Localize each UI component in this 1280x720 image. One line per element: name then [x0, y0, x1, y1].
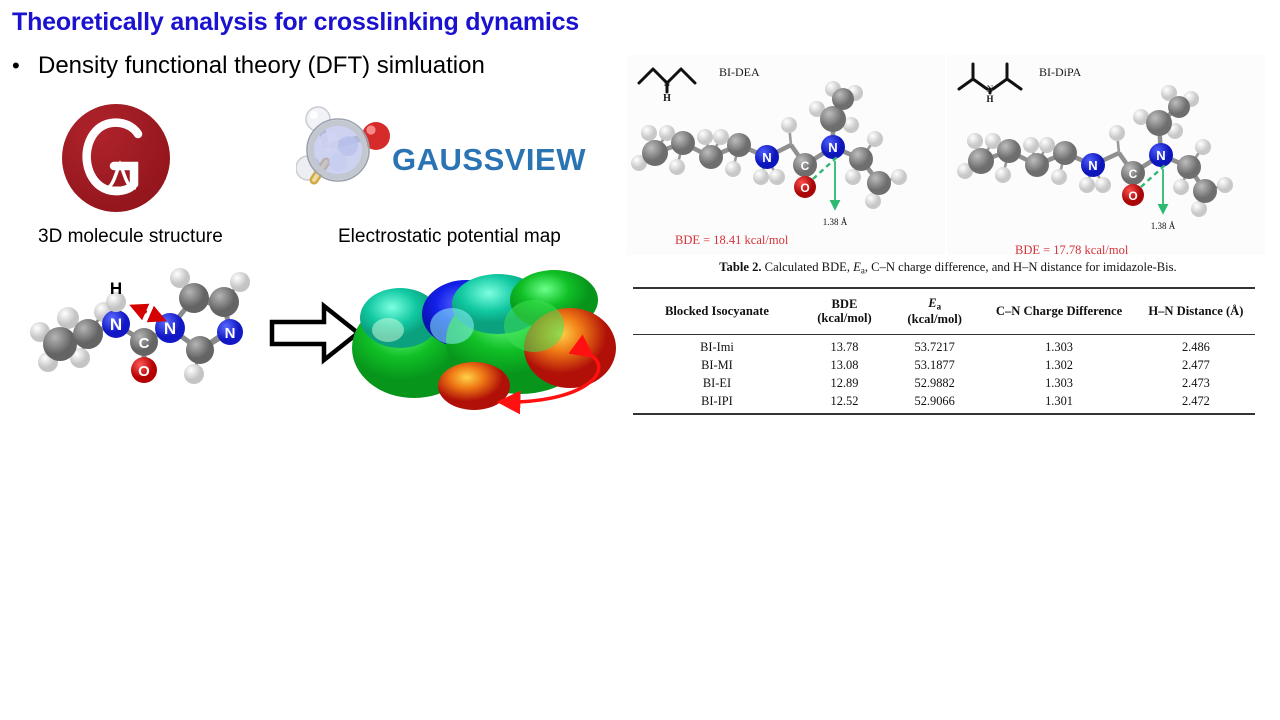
gaussian-logo	[62, 104, 170, 212]
bullet-label: Density functional theory (DFT) simluati…	[38, 52, 485, 80]
bde-value-bi-dea: BDE = 18.41 kcal/mol	[675, 233, 788, 248]
header-line1: BDE	[803, 297, 886, 311]
table-header-row: Blocked Isocyanate BDE (kcal/mol) Ea (kc…	[633, 288, 1255, 335]
bullet-item: • Density functional theory (DFT) simlua…	[12, 52, 485, 80]
cell-compound: BI-IPI	[633, 393, 801, 415]
table-footer-rule	[633, 414, 1255, 415]
svg-text:H: H	[110, 279, 122, 298]
svg-text:C: C	[801, 159, 810, 173]
caption-electrostatic-potential-map: Electrostatic potential map	[338, 226, 561, 248]
table-header-charge-difference: C–N Charge Difference	[981, 288, 1137, 335]
table-caption-text-2: , C–N charge difference, and H–N distanc…	[865, 260, 1177, 274]
molecule-structure-bi-dipa-image: N N C O 1.38 Å	[947, 81, 1265, 231]
cell-ea: 53.1877	[888, 357, 981, 375]
svg-text:N: N	[1088, 158, 1097, 173]
cell-compound: BI-Imi	[633, 335, 801, 357]
cell-bde: 12.52	[801, 393, 888, 415]
table-header-blocked-isocyanate: Blocked Isocyanate	[633, 288, 801, 335]
gaussian-logo-g-glyph	[62, 104, 170, 212]
svg-text:N: N	[762, 150, 771, 165]
cell-ea: 52.9066	[888, 393, 981, 415]
molecule-3d-structure-image: N N N C O H	[18, 258, 268, 420]
table-caption-label: Table 2.	[719, 260, 761, 274]
cell-compound: BI-EI	[633, 375, 801, 393]
cell-charge-diff: 1.301	[981, 393, 1137, 415]
cell-compound: BI-MI	[633, 357, 801, 375]
page-title: Theoretically analysis for crosslinking …	[12, 8, 579, 37]
table-row: BI-IPI 12.52 52.9066 1.301 2.472	[633, 393, 1255, 415]
svg-text:1.38 Å: 1.38 Å	[823, 217, 848, 227]
svg-text:O: O	[138, 363, 150, 380]
table-row: BI-Imi 13.78 53.7217 1.303 2.486	[633, 335, 1255, 357]
svg-text:N: N	[1156, 148, 1165, 163]
cell-hn-distance: 2.477	[1137, 357, 1255, 375]
table-caption-ea: E	[853, 260, 861, 274]
svg-text:N: N	[110, 315, 122, 334]
bde-value-bi-dipa: BDE = 17.78 kcal/mol	[1015, 243, 1128, 258]
gaussview-molecule-magnifier-icon	[296, 106, 400, 198]
gaussview-logo-text: GAUSSVIEW	[392, 142, 586, 178]
table-header-bde: BDE (kcal/mol)	[801, 288, 888, 335]
molecule-panel-bi-dea: N H BI-DEA	[627, 55, 945, 255]
cell-bde: 13.78	[801, 335, 888, 357]
svg-text:1.38 Å: 1.38 Å	[1151, 221, 1176, 231]
cell-hn-distance: 2.486	[1137, 335, 1255, 357]
table-caption: Table 2. Calculated BDE, Ea, C–N charge …	[633, 260, 1263, 275]
electrostatic-potential-map-image	[348, 252, 616, 424]
molecule-panel-bi-dipa: N H BI-DiPA	[947, 55, 1265, 255]
cell-hn-distance: 2.473	[1137, 375, 1255, 393]
cell-hn-distance: 2.472	[1137, 393, 1255, 415]
svg-text:O: O	[1128, 189, 1137, 203]
slide-canvas: Theoretically analysis for crosslinking …	[0, 0, 1280, 720]
cell-ea: 52.9882	[888, 375, 981, 393]
cell-charge-diff: 1.303	[981, 335, 1137, 357]
header-line1: Blocked Isocyanate	[635, 304, 799, 318]
svg-text:C: C	[139, 335, 150, 352]
molecule-panel-label-bi-dipa: BI-DiPA	[1039, 65, 1081, 80]
molecule-panel-label-bi-dea: BI-DEA	[719, 65, 760, 80]
header-line1: Ea	[890, 296, 979, 312]
table-header-hn-distance: H–N Distance (Å)	[1137, 288, 1255, 335]
svg-text:N: N	[164, 319, 176, 338]
svg-text:O: O	[800, 181, 809, 195]
molecule-structure-bi-dea-image: N N C O 1.38 Å	[627, 81, 945, 231]
table-row: BI-MI 13.08 53.1877 1.302 2.477	[633, 357, 1255, 375]
header-line2: (kcal/mol)	[803, 311, 886, 325]
table-header-ea: Ea (kcal/mol)	[888, 288, 981, 335]
cell-charge-diff: 1.302	[981, 357, 1137, 375]
gaussview-logo: GAUSSVIEW	[296, 106, 558, 198]
cell-charge-diff: 1.303	[981, 375, 1137, 393]
header-line2: (kcal/mol)	[890, 312, 979, 326]
svg-text:C: C	[1129, 167, 1138, 181]
table-body: BI-Imi 13.78 53.7217 1.303 2.486 BI-MI 1…	[633, 335, 1255, 415]
cell-ea: 53.7217	[888, 335, 981, 357]
svg-text:N: N	[828, 140, 837, 155]
bullet-marker-icon: •	[12, 52, 38, 80]
header-line1: C–N Charge Difference	[983, 304, 1135, 318]
caption-3d-molecule-structure: 3D molecule structure	[38, 226, 223, 248]
cell-bde: 13.08	[801, 357, 888, 375]
table-caption-text-1: Calculated BDE,	[762, 260, 854, 274]
results-table: Blocked Isocyanate BDE (kcal/mol) Ea (kc…	[633, 287, 1255, 415]
table-row: BI-EI 12.89 52.9882 1.303 2.473	[633, 375, 1255, 393]
svg-text:N: N	[225, 325, 236, 342]
figure-panel: N H BI-DEA	[625, 55, 1270, 435]
cell-bde: 12.89	[801, 375, 888, 393]
header-line1: H–N Distance (Å)	[1139, 304, 1253, 318]
